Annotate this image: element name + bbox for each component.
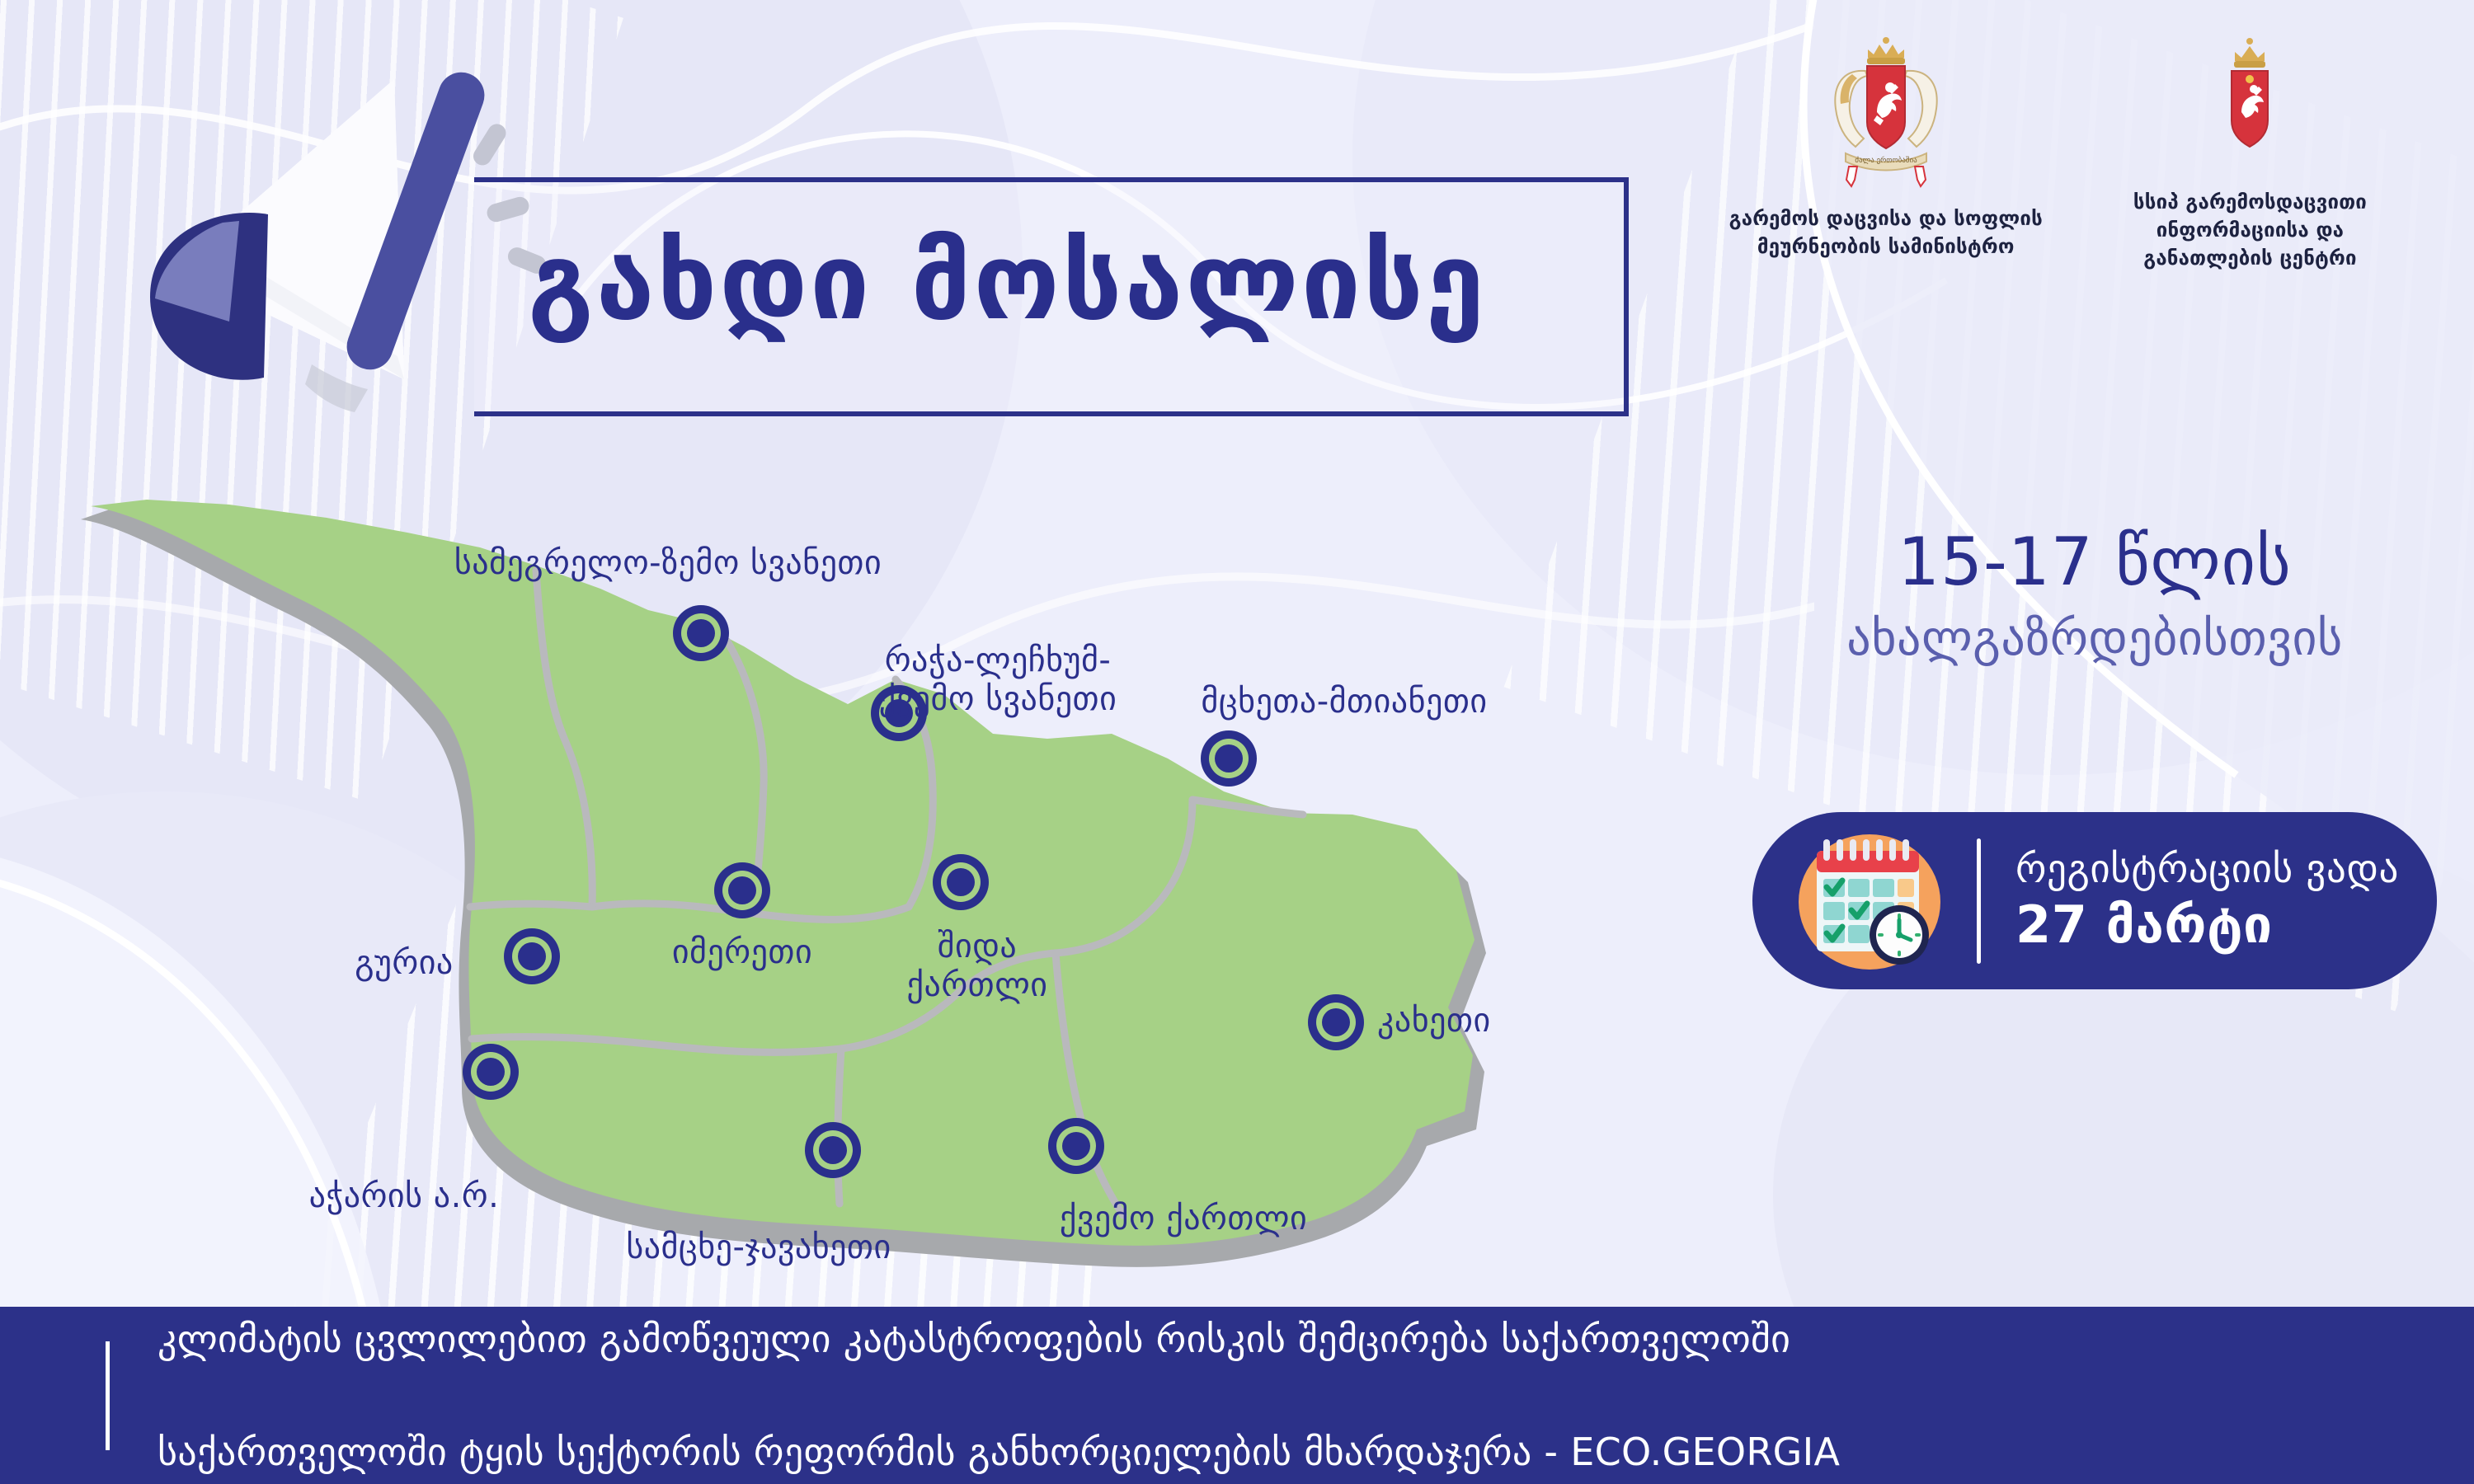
footer-banner: კლიმატის ცვლილებით გამოწვეული კატასტროფე…	[0, 1307, 2474, 1484]
deadline-date: 27 მარტი	[2015, 897, 2399, 953]
map-label-kvemo: ქვემო ქართლი	[985, 1200, 1381, 1238]
logo-ministry-caption: გარემოს დაცვისა და სოფლის მეურნეობის სამ…	[1729, 204, 2043, 261]
footer-line-1: კლიმატის ცვლილებით გამოწვეული კატასტროფე…	[158, 1311, 1840, 1367]
georgia-shield-crown-icon	[2212, 33, 2288, 173]
age-range-block: 15-17 წლის ახალგაზრდებისთვის	[1765, 528, 2425, 666]
georgia-map: სამეგრელო-ზემო სვანეთი რაჭა-ლეჩხუმ- ქვემ…	[74, 495, 1724, 1286]
page-title: გახდი მოსალისე	[528, 221, 1487, 344]
poster-root: ძალა ერთობაშია გარემოს დაცვისა და სოფლის…	[0, 0, 2474, 1484]
logo-ministry: ძალა ერთობაშია გარემოს დაცვისა და სოფლის…	[1729, 33, 2043, 261]
header-logos: ძალა ერთობაშია გარემოს დაცვისა და სოფლის…	[1729, 33, 2367, 272]
footer-line-2: საქართველოში ტყის სექტორის რეფორმის განხ…	[158, 1424, 1840, 1480]
footer-text: კლიმატის ცვლილებით გამოწვეული კატასტროფე…	[158, 1255, 1840, 1484]
map-label-kakheti: კახეთი	[1377, 1002, 1658, 1040]
registration-deadline-badge: რეგისტრაციის ვადა 27 მარტი	[1752, 812, 2437, 989]
georgia-map-svg	[74, 495, 1724, 1286]
logo-center-caption: სსიპ გარემოსდაცვითი ინფორმაციისა და განა…	[2133, 188, 2367, 272]
deadline-label: რეგისტრაციის ვადა	[2015, 848, 2399, 892]
deadline-divider	[1977, 838, 1981, 964]
svg-text:ძალა ერთობაშია: ძალა ერთობაშია	[1855, 156, 1917, 165]
map-label-adjara: აჭარის ა.რ.	[231, 1177, 577, 1216]
deadline-text-block: რეგისტრაციის ვადა 27 მარტი	[2015, 848, 2399, 953]
map-label-imereti: იმერეთი	[602, 933, 882, 972]
map-label-shida: შიდა ქართლი	[862, 927, 1093, 1005]
calendar-clock-icon	[1790, 831, 1952, 971]
logo-center: სსიპ გარემოსდაცვითი ინფორმაციისა და განა…	[2133, 33, 2367, 272]
megaphone-icon	[132, 49, 561, 445]
footer-accent-bar	[106, 1341, 110, 1450]
map-label-guria: გურია	[280, 944, 528, 983]
georgia-coat-of-arms-icon: ძალა ერთობაშია	[1816, 33, 1956, 190]
map-label-racha: რაჭა-ლეჩხუმ- ქვემო სვანეთი	[792, 641, 1204, 719]
age-audience-text: ახალგაზრდებისთვის	[1765, 610, 2425, 666]
map-label-mtskheta: მცხეთა-მთიანეთი	[1146, 683, 1542, 721]
age-range-text: 15-17 წლის	[1765, 528, 2425, 597]
map-label-samegrelo: სამეგრელო-ზემო სვანეთი	[388, 544, 948, 583]
